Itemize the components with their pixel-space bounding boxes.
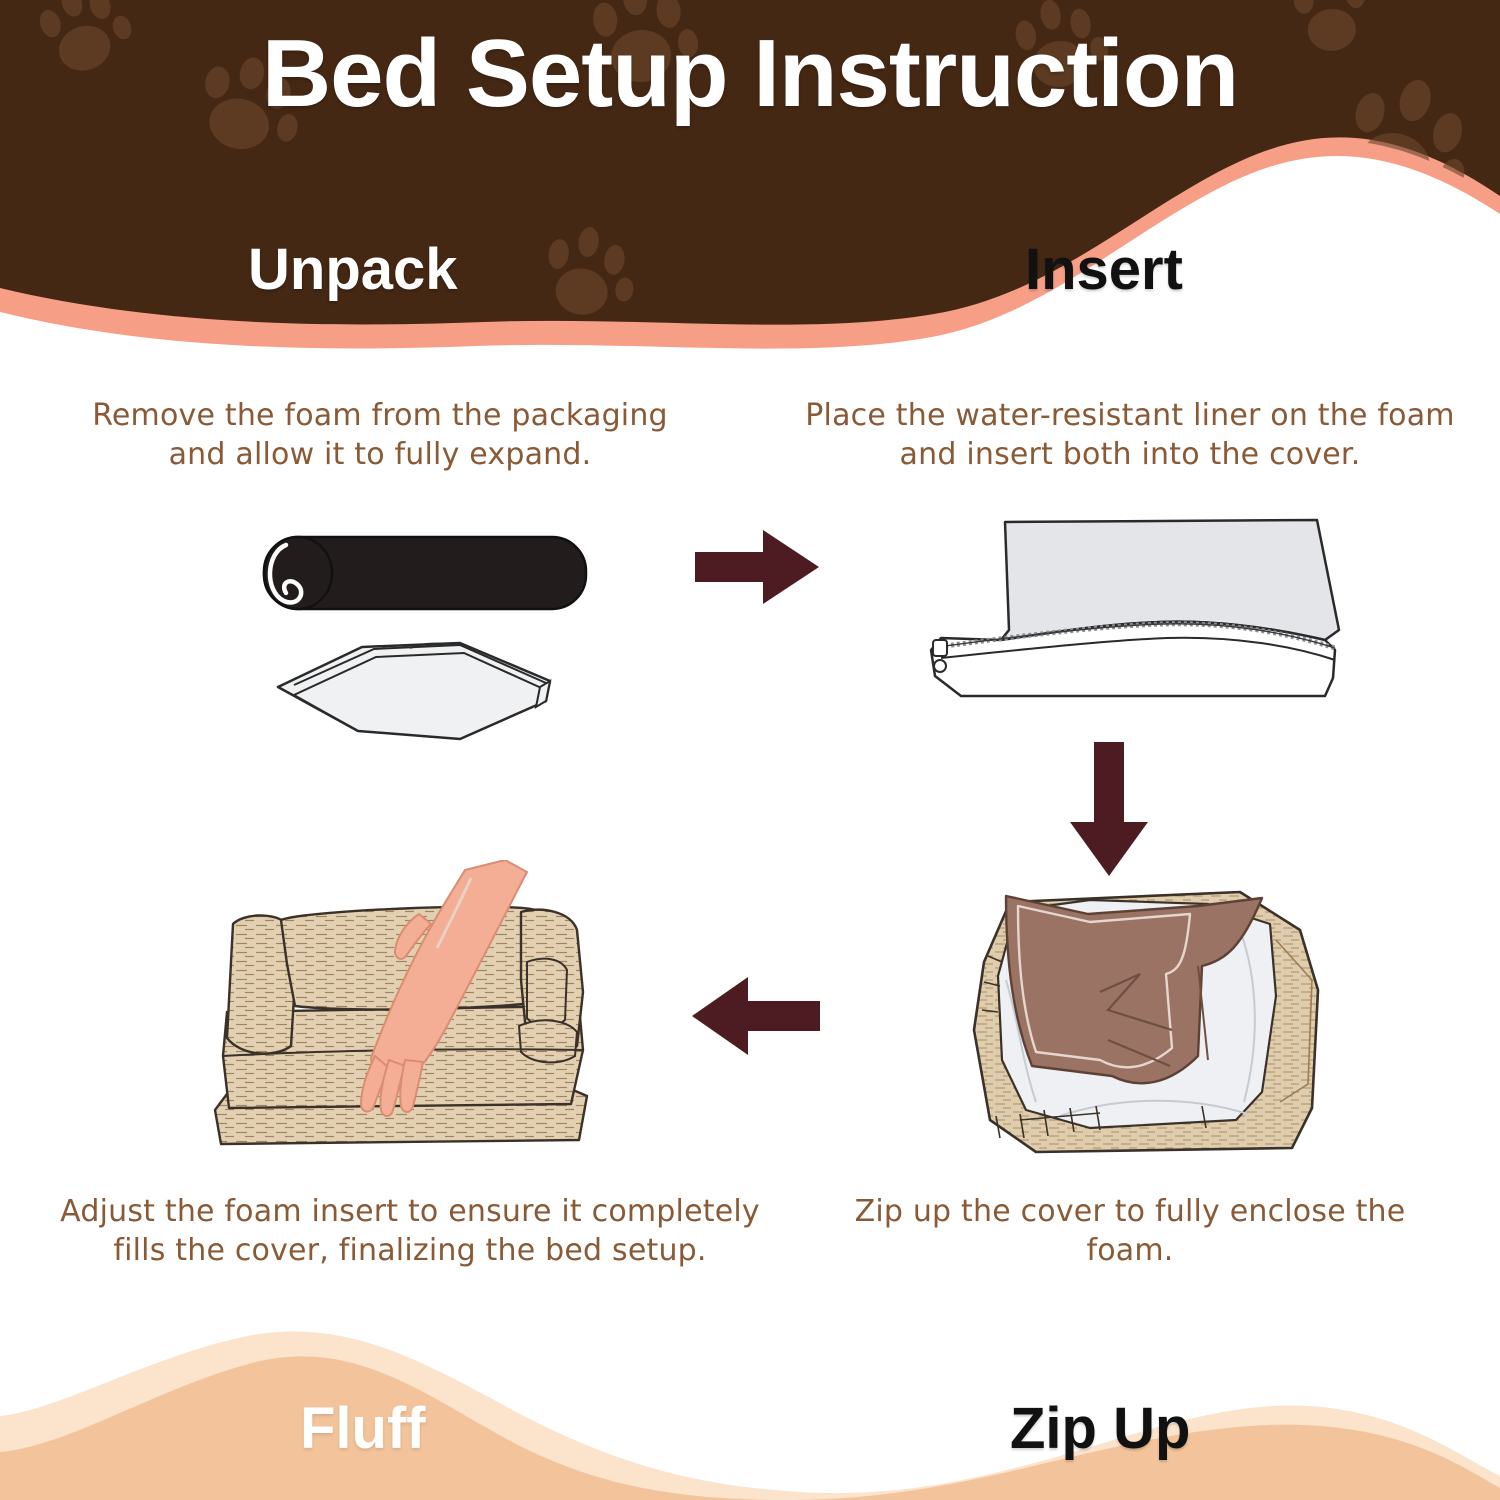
footer-wave-graphic (0, 1300, 1500, 1500)
illustration-fluff (175, 860, 615, 1180)
footer-peach-wave (0, 1356, 1500, 1500)
illustration-unpack (250, 515, 650, 745)
caption-zip-up: Zip up the cover to fully enclose the fo… (820, 1192, 1440, 1270)
zipper-pull-icon (933, 640, 947, 672)
illustration-zip-up (940, 870, 1340, 1180)
cover-with-foam-icon (974, 892, 1318, 1152)
illustration-insert (905, 500, 1345, 715)
infographic-canvas: Bed Setup Instruction Unpack Insert Remo… (0, 0, 1500, 1500)
arrow-down-icon (1068, 742, 1150, 877)
step-label-zip-up: Zip Up (1010, 1395, 1190, 1462)
rolled-foam-icon (264, 537, 586, 609)
arrow-unpack-to-insert (695, 528, 820, 606)
footer-banner (0, 1300, 1500, 1500)
page-title: Bed Setup Instruction (0, 24, 1500, 125)
arrow-right-icon (695, 528, 820, 606)
step-label-fluff: Fluff (300, 1395, 426, 1462)
arrow-left-icon (690, 975, 820, 1057)
step-label-insert: Insert (1025, 236, 1183, 303)
zippered-cover-icon (931, 520, 1339, 696)
header-banner: Bed Setup Instruction (0, 0, 1500, 360)
arrow-zip-to-fluff (690, 975, 820, 1057)
caption-insert: Place the water-resistant liner on the f… (800, 396, 1460, 474)
caption-unpack: Remove the foam from the packaging and a… (60, 396, 700, 474)
liner-sheet-icon (278, 643, 550, 739)
arrow-insert-to-zip (1068, 742, 1150, 877)
step-label-unpack: Unpack (248, 236, 458, 303)
caption-fluff: Adjust the foam insert to ensure it comp… (60, 1192, 760, 1270)
